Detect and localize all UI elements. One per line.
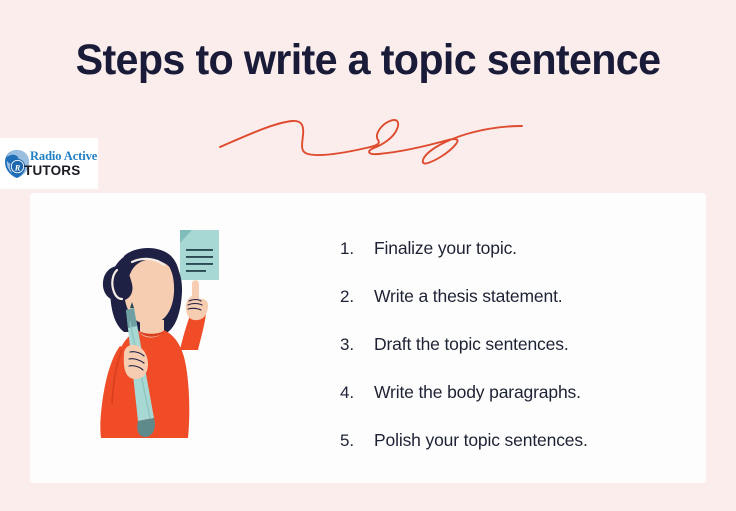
list-item-text: Finalize your topic. bbox=[374, 238, 517, 259]
document-icon bbox=[180, 230, 219, 280]
poster-canvas: Steps to write a topic sentence R Radio … bbox=[0, 0, 736, 511]
list-item: 4. Write the body paragraphs. bbox=[340, 382, 730, 430]
pointing-hand bbox=[186, 280, 208, 320]
svg-text:R: R bbox=[14, 163, 21, 172]
steps-list: 1. Finalize your topic. 2. Write a thesi… bbox=[300, 238, 730, 478]
list-item-text: Draft the topic sentences. bbox=[374, 334, 569, 355]
list-item-text: Write a thesis statement. bbox=[374, 286, 563, 307]
squiggle-flourish-icon bbox=[216, 104, 526, 170]
list-item: 2. Write a thesis statement. bbox=[340, 286, 730, 334]
list-item-text: Write the body paragraphs. bbox=[374, 382, 581, 403]
list-item: 3. Draft the topic sentences. bbox=[340, 334, 730, 382]
list-item-number: 3. bbox=[340, 335, 374, 355]
list-item-number: 5. bbox=[340, 431, 374, 451]
page-title: Steps to write a topic sentence bbox=[15, 34, 722, 86]
list-item: 5. Polish your topic sentences. bbox=[340, 430, 730, 478]
brand-logo[interactable]: R Radio Active TUTORS bbox=[0, 138, 98, 189]
woman-pointing-at-document-icon bbox=[80, 222, 255, 452]
list-item: 1. Finalize your topic. bbox=[340, 238, 730, 286]
logo-line-1: Radio Active bbox=[30, 150, 97, 163]
list-item-number: 4. bbox=[340, 383, 374, 403]
list-item-number: 1. bbox=[340, 239, 374, 259]
list-item-number: 2. bbox=[340, 287, 374, 307]
logo-line-2: TUTORS bbox=[24, 164, 97, 178]
list-item-text: Polish your topic sentences. bbox=[374, 430, 588, 451]
